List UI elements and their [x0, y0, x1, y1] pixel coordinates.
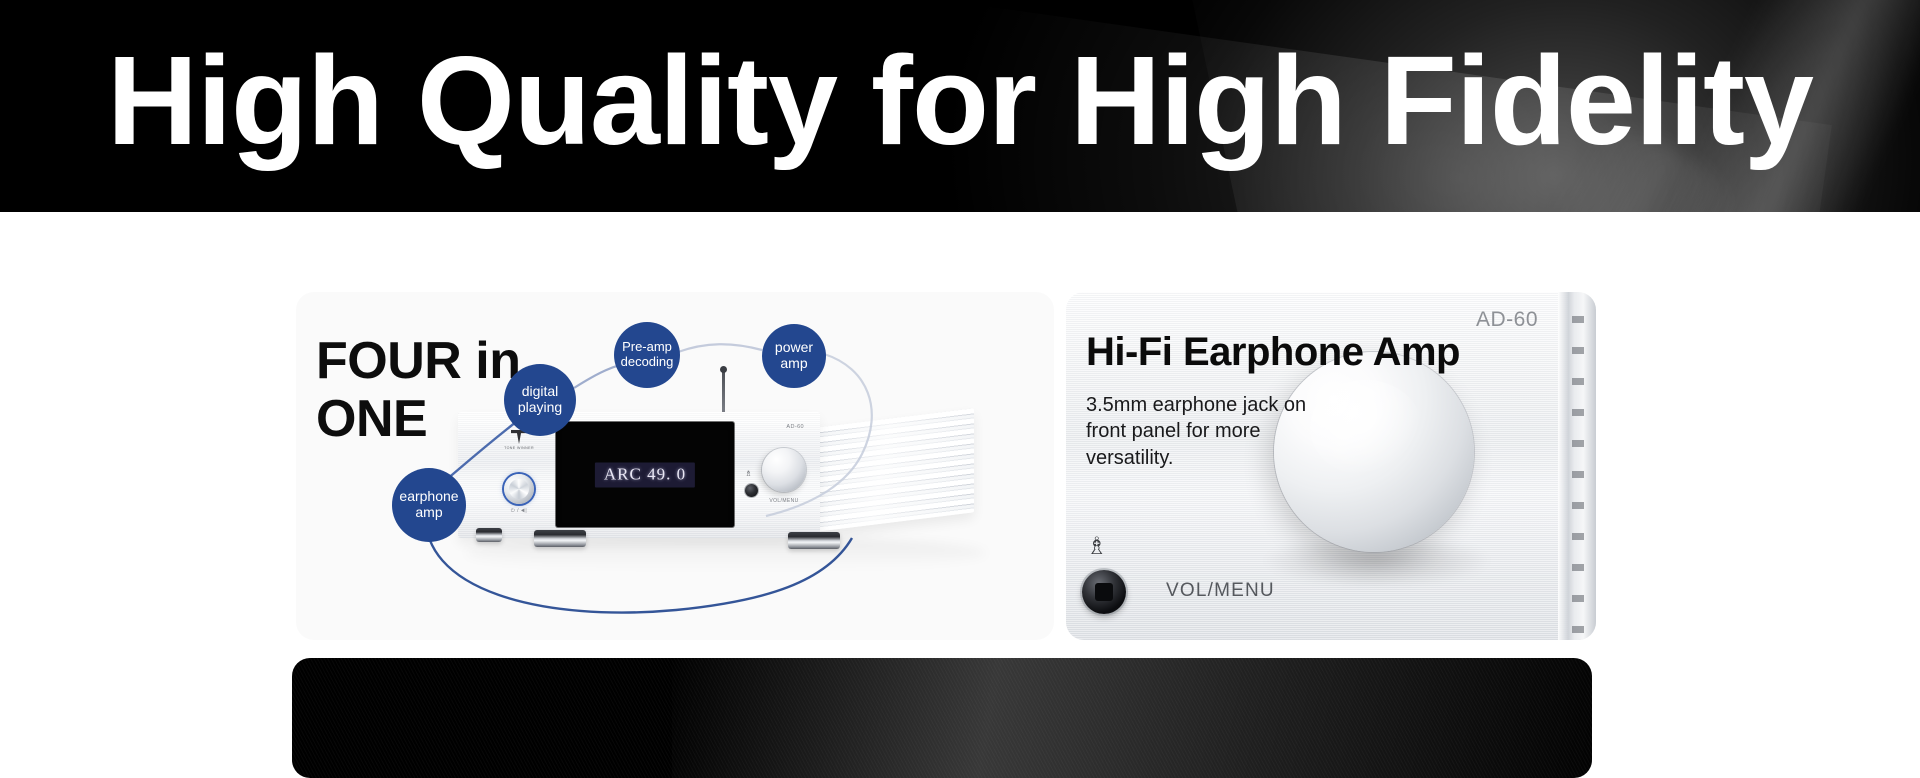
model-label: AD-60 [1476, 308, 1538, 332]
hifi-title: Hi-Fi Earphone Amp [1086, 330, 1460, 375]
card-bottom-dark-panel [292, 658, 1592, 778]
bubble-line-1: power [775, 339, 813, 355]
panel-sheen-decoration [672, 658, 1592, 778]
panel-edge-decoration [1558, 292, 1568, 640]
card-four-in-one: FOUR in ONE TONE WINNER ⏻ / ◀| ARC 49. 0… [296, 292, 1054, 640]
hifi-description: 3.5mm earphone jack on front panel for m… [1086, 392, 1316, 471]
bubble-power-amp[interactable]: power amp [762, 324, 826, 388]
heatsink-fins [1568, 292, 1596, 640]
bubble-digital-playing[interactable]: digital playing [504, 364, 576, 436]
bubble-line-1: digital [522, 383, 559, 399]
bubble-earphone-amp[interactable]: earphone amp [392, 468, 466, 542]
headphone-icon: ♗ [1086, 535, 1108, 559]
bubble-pre-amp-decoding[interactable]: Pre-amp decoding [614, 322, 680, 388]
bubble-line-2: amp [780, 355, 807, 371]
volume-knob-label: VOL/MENU [1166, 580, 1275, 602]
bubble-line-2: amp [415, 504, 442, 520]
page-title: High Quality for High Fidelity [0, 0, 1920, 212]
hero-banner: High Quality for High Fidelity [0, 0, 1920, 212]
earphone-jack[interactable] [1082, 570, 1126, 614]
card-hifi-earphone-amp: AD-60 Hi-Fi Earphone Amp 3.5mm earphone … [1066, 292, 1596, 640]
bubble-line-2: playing [518, 399, 562, 415]
bubble-line-1: earphone [399, 488, 458, 504]
feature-card-row: FOUR in ONE TONE WINNER ⏻ / ◀| ARC 49. 0… [296, 292, 1596, 640]
bubble-line-1: Pre-amp [622, 339, 672, 354]
bubble-line-2: decoding [621, 354, 674, 369]
